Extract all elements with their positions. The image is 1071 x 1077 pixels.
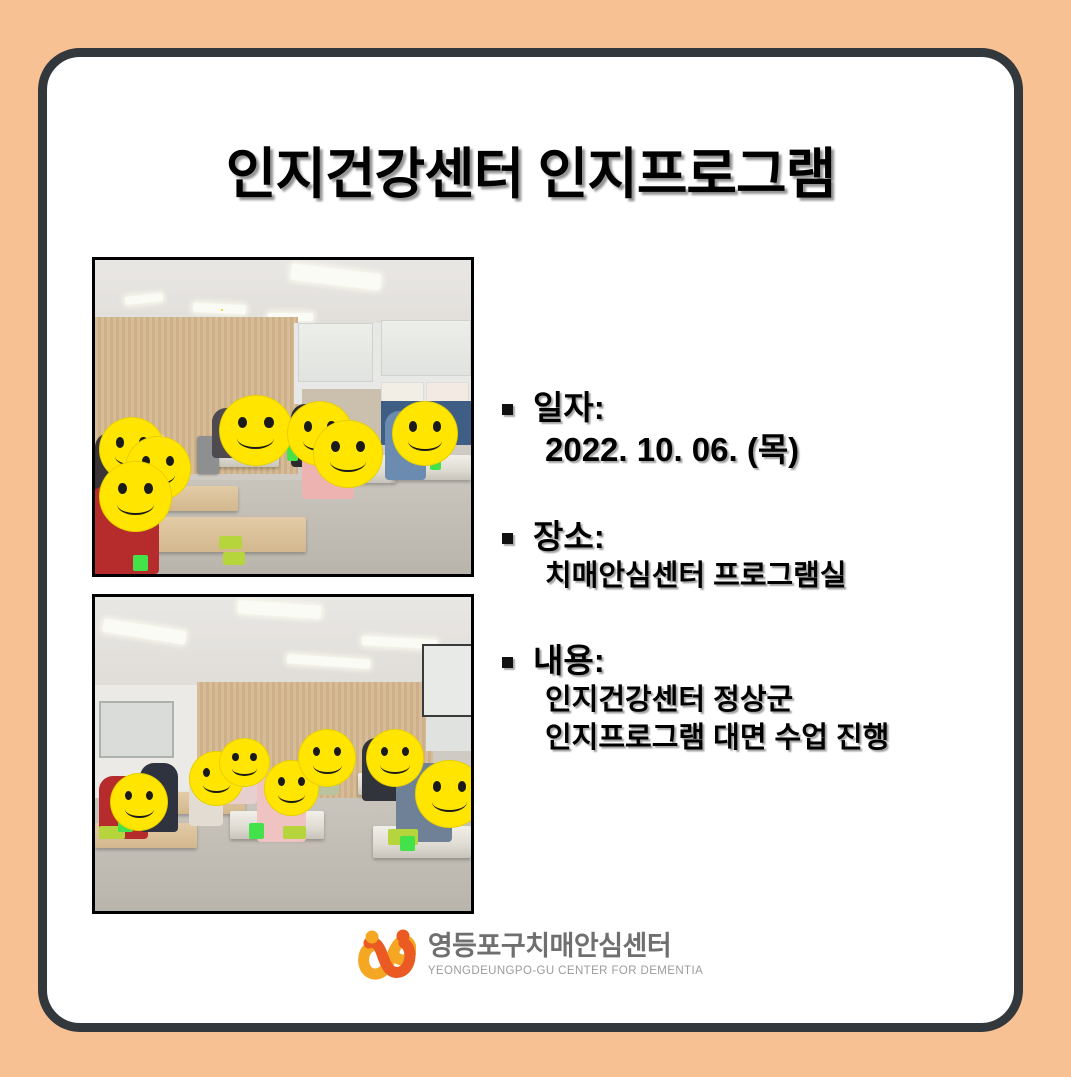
square-bullet-icon (502, 533, 513, 544)
craft-cup (400, 836, 415, 852)
info-list: 일자: 2022. 10. 06. (목) 장소: 치매안심센터 프로그램실 내… (502, 387, 1022, 758)
photo-scene (95, 597, 471, 911)
info-item-place: 장소: 치매안심센터 프로그램실 (502, 516, 1022, 596)
page-title: 인지건강센터 인지프로그램 (47, 129, 1014, 209)
info-label: 내용: (533, 640, 605, 682)
smiley-face-mask (313, 420, 383, 488)
craft-cup (133, 555, 148, 571)
smiley-face-mask (219, 395, 292, 466)
info-item-heading: 장소: (502, 516, 1022, 558)
organization-name-en: YEONGDEUNGPO-GU CENTER FOR DEMENTIA (428, 966, 703, 978)
logo-text: 영등포구치매안심센터 YEONGDEUNGPO-GU CENTER FOR DE… (428, 933, 703, 978)
smiley-face-mask (99, 461, 172, 532)
poster-card: 인지건강센터 인지프로그램 (38, 48, 1023, 1032)
window-blind (381, 320, 471, 377)
info-label: 일자: (533, 387, 605, 429)
square-bullet-icon (502, 657, 513, 668)
info-item-date: 일자: 2022. 10. 06. (목) (502, 387, 1022, 472)
info-value-line-2: 인지프로그램 대면 수업 진행 (545, 720, 1022, 758)
photo-scene (95, 260, 471, 574)
organization-logo: 영등포구치매안심센터 YEONGDEUNGPO-GU CENTER FOR DE… (358, 929, 703, 981)
craft-material (283, 826, 306, 839)
window-blind (298, 323, 373, 383)
info-label: 장소: (533, 516, 605, 558)
info-value-line-1: 인지건강센터 정상군 (545, 682, 1022, 720)
info-item-heading: 일자: (502, 387, 1022, 429)
display-window (99, 701, 174, 758)
photo-column (92, 257, 474, 914)
craft-cup (249, 823, 264, 839)
classroom-photo-front (92, 257, 474, 577)
smiley-face-mask (221, 309, 223, 311)
craft-material (223, 552, 246, 565)
two-people-infinity-icon (358, 929, 416, 981)
organization-name-ko: 영등포구치매안심센터 (428, 933, 703, 960)
info-value: 2022. 10. 06. (목) (545, 429, 1022, 472)
info-item-heading: 내용: (502, 640, 1022, 682)
footer: 영등포구치매안심센터 YEONGDEUNGPO-GU CENTER FOR DE… (47, 929, 1014, 981)
whiteboard (422, 644, 474, 717)
smiley-face-mask (219, 738, 270, 787)
info-value: 치매안심센터 프로그램실 (545, 558, 1022, 596)
smiley-face-mask (366, 729, 424, 788)
classroom-photo-wide (92, 594, 474, 914)
smiley-face-mask (392, 401, 458, 466)
info-item-content: 내용: 인지건강센터 정상군 인지프로그램 대면 수업 진행 (502, 640, 1022, 758)
square-bullet-icon (502, 404, 513, 415)
craft-material (219, 536, 242, 549)
